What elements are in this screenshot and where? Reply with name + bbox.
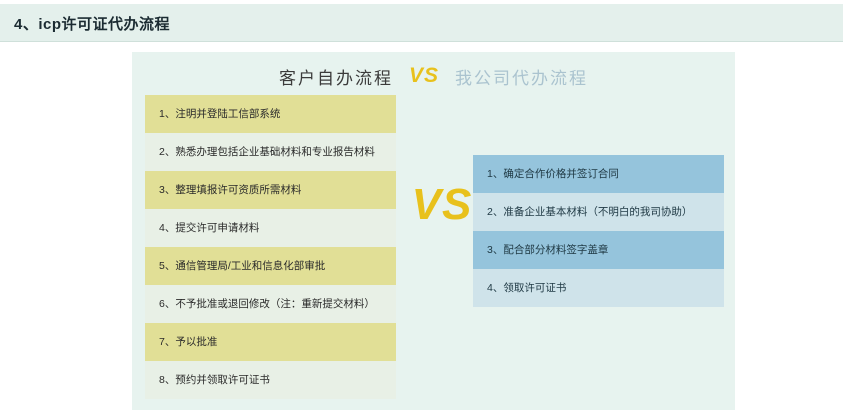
customer-step-7: 7、予以批准 [145,323,396,361]
customer-step-4: 4、提交许可申请材料 [145,209,396,247]
company-step-2-label: 2、准备企业基本材料（不明白的我司协助） [487,206,692,218]
customer-step-1: 1、注明并登陆工信部系统 [145,95,396,133]
company-step-1: 1、确定合作价格并签订合同 [473,155,724,193]
customer-step-3-label: 3、整理填报许可资质所需材料 [159,184,301,196]
comparison-flow-diagram: 客户自办流程 VS 我公司代办流程 1、注明并登陆工信部系统 2、熟悉办理包括企… [132,52,735,410]
diagram-title-row: 客户自办流程 VS 我公司代办流程 [132,58,735,94]
company-step-4-label: 4、领取许可证书 [487,282,566,294]
customer-step-8-label: 8、预约并领取许可证书 [159,374,270,386]
company-step-1-label: 1、确定合作价格并签订合同 [487,168,619,180]
customer-flow-column: 1、注明并登陆工信部系统 2、熟悉办理包括企业基础材料和专业报告材料 3、整理填… [145,95,396,399]
company-flow-column: 1、确定合作价格并签订合同 2、准备企业基本材料（不明白的我司协助） 3、配合部… [473,155,724,307]
customer-step-2-label: 2、熟悉办理包括企业基础材料和专业报告材料 [159,146,375,158]
customer-step-4-label: 4、提交许可申请材料 [159,222,259,234]
company-step-4: 4、领取许可证书 [473,269,724,307]
customer-step-7-label: 7、予以批准 [159,336,217,348]
section-header-bar: 4、icp许可证代办流程 [0,4,843,42]
customer-step-1-label: 1、注明并登陆工信部系统 [159,108,280,120]
company-step-3-label: 3、配合部分材料签字盖章 [487,244,608,256]
customer-step-6: 6、不予批准或退回修改（注：重新提交材料） [145,285,396,323]
company-step-2: 2、准备企业基本材料（不明白的我司协助） [473,193,724,231]
customer-step-6-label: 6、不予批准或退回修改（注：重新提交材料） [159,298,375,310]
customer-step-5-label: 5、通信管理局/工业和信息化部审批 [159,260,325,272]
customer-step-3: 3、整理填报许可资质所需材料 [145,171,396,209]
customer-step-5: 5、通信管理局/工业和信息化部审批 [145,247,396,285]
customer-step-2: 2、熟悉办理包括企业基础材料和专业报告材料 [145,133,396,171]
customer-flow-heading: 客户自办流程 [279,64,393,89]
company-flow-heading: 我公司代办流程 [455,64,588,89]
page-title: 4、icp许可证代办流程 [14,13,170,34]
vs-heading-label: VS [409,64,439,88]
company-step-3: 3、配合部分材料签字盖章 [473,231,724,269]
customer-step-8: 8、预约并领取许可证书 [145,361,396,399]
